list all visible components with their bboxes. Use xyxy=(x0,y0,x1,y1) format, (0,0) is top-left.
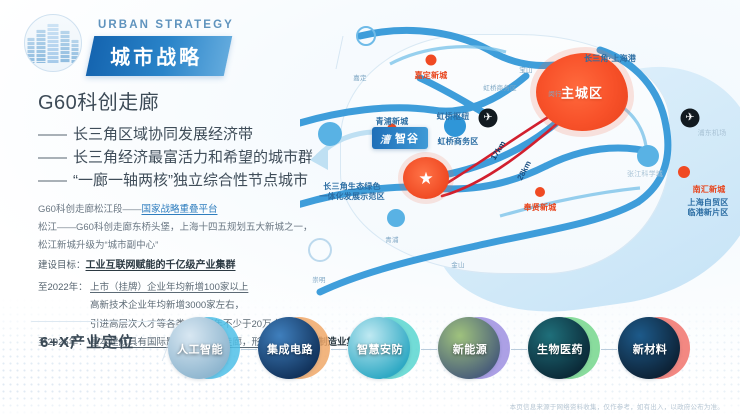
bullet-text: 长三角区域协同发展经济带 xyxy=(73,124,253,147)
note-text: G60科创走廊松江段—— xyxy=(38,204,141,215)
map-node-chongming xyxy=(308,238,332,262)
bullet-text: 长三角经济最富活力和希望的城市群 xyxy=(73,147,313,170)
map-label: 奉贤新城 xyxy=(524,202,557,213)
main-city-label: 主城区 xyxy=(561,83,603,102)
city-building-icon xyxy=(24,14,82,72)
map-label: 青浦 xyxy=(385,234,398,244)
industry-item[interactable]: 智慧安防 xyxy=(348,313,420,385)
note-text: 松江——G60科创走廊东桥头堡，上海十四五规划五大新城之一， xyxy=(38,222,312,233)
industry-name: 人工智能 xyxy=(168,341,232,357)
bullet-text: “一廊一轴两核”独立综合性节点城市 xyxy=(73,170,308,193)
project-badge-label: 智谷 xyxy=(395,130,419,146)
bullet-dash: —— xyxy=(38,124,66,147)
map-node-zhangjiang xyxy=(637,145,659,167)
map-node-sw xyxy=(387,209,405,227)
map-label: 嘉定 xyxy=(353,72,366,82)
project-badge[interactable]: 漕 智谷 xyxy=(372,127,428,149)
header-cn-banner: 城市战略 xyxy=(90,36,228,76)
airplane-icon-hongqiao: ✈ xyxy=(479,109,498,128)
map-label: 虹桥商务区 xyxy=(438,136,479,147)
industry-row: 6+X产业定位 人工智能集成电路智慧安防新能源生物医药新材料 xyxy=(0,303,740,395)
header-cn-title: 城市战略 xyxy=(110,41,202,70)
star-icon: ★ xyxy=(418,170,433,187)
note-text: 松江新城升级为“城市副中心” xyxy=(38,240,158,251)
industry-connector xyxy=(421,349,437,350)
bullet-dash: —— xyxy=(38,170,66,193)
page-root: URBAN STRATEGY 城市战略 G60科创走廊 ——长三角区域协同发展经… xyxy=(0,0,740,417)
industry-item[interactable]: 生物医药 xyxy=(528,313,600,385)
bullet-dash: —— xyxy=(38,147,66,170)
map-label: 浦东机场 xyxy=(698,128,727,138)
industry-label: 6+X产业定位 xyxy=(40,331,134,352)
map-label-multiline: 长三角·上海港 xyxy=(584,54,636,64)
map-node-nanhui xyxy=(678,166,690,178)
map-node-west xyxy=(318,122,342,146)
industry-item[interactable]: 新材料 xyxy=(618,313,690,385)
airplane-icon-pudong: ✈ xyxy=(681,109,700,128)
industry-item[interactable]: 人工智能 xyxy=(168,313,240,385)
industry-name: 集成电路 xyxy=(258,341,322,357)
year-label: 至2022年： xyxy=(38,279,90,297)
map-label: 张江科学城 xyxy=(627,169,663,179)
goal-value: 工业互联网赋能的千亿级产业集群 xyxy=(86,260,236,271)
map-node-ring-nw xyxy=(356,26,376,46)
industry-name: 新材料 xyxy=(618,341,682,357)
industry-name: 智慧安防 xyxy=(348,341,412,357)
industry-circle-list: 人工智能集成电路智慧安防新能源生物医药新材料 xyxy=(168,303,734,395)
project-mark: 漕 xyxy=(380,131,391,146)
industry-connector xyxy=(331,349,347,350)
industry-connector xyxy=(241,349,257,350)
year-text: 上市（挂牌）企业年均新增100家以上 xyxy=(90,279,248,297)
map-label: 金山 xyxy=(451,259,464,269)
map-label: 南汇新城 xyxy=(693,184,726,195)
map-label: 闵行 xyxy=(548,88,561,98)
map-label: 青浦新城 xyxy=(376,116,409,127)
footer-disclaimer: 本页信息来源于网络资料收集，仅作参考，如有出入，以政府公布为准。 xyxy=(510,401,724,411)
map-node-fengxian xyxy=(535,187,545,197)
map-label: 宝山 xyxy=(519,64,532,74)
map-label: 虹桥枢纽 xyxy=(437,111,470,122)
goal-label: 建设目标： xyxy=(38,260,86,271)
map-label-multiline: 长三角生态绿色一体化发展示范区 xyxy=(319,182,385,202)
map-label: 虹桥商务区 xyxy=(483,82,517,92)
note-highlight: 国家战略重叠平台 xyxy=(141,204,217,215)
songjiang-marker: ★ xyxy=(403,157,449,199)
map-label: 嘉定新城 xyxy=(415,70,448,81)
industry-item[interactable]: 集成电路 xyxy=(258,313,330,385)
header-en-title: URBAN STRATEGY xyxy=(98,19,234,31)
map-region: 主城区 ★ 漕 智谷 ✈ ✈ 17km 28km 嘉定新城虹桥枢纽青浦新城虹桥商… xyxy=(300,6,740,316)
industry-connector xyxy=(511,349,527,350)
industry-name: 新能源 xyxy=(438,341,502,357)
industry-name: 生物医药 xyxy=(528,341,592,357)
map-label-multiline: 上海自贸区临港新片区 xyxy=(688,198,729,218)
map-label: 崇明 xyxy=(312,274,325,284)
industry-item[interactable]: 新能源 xyxy=(438,313,510,385)
road-network xyxy=(300,6,740,316)
industry-connector xyxy=(601,349,617,350)
map-node-jiading xyxy=(426,55,437,66)
